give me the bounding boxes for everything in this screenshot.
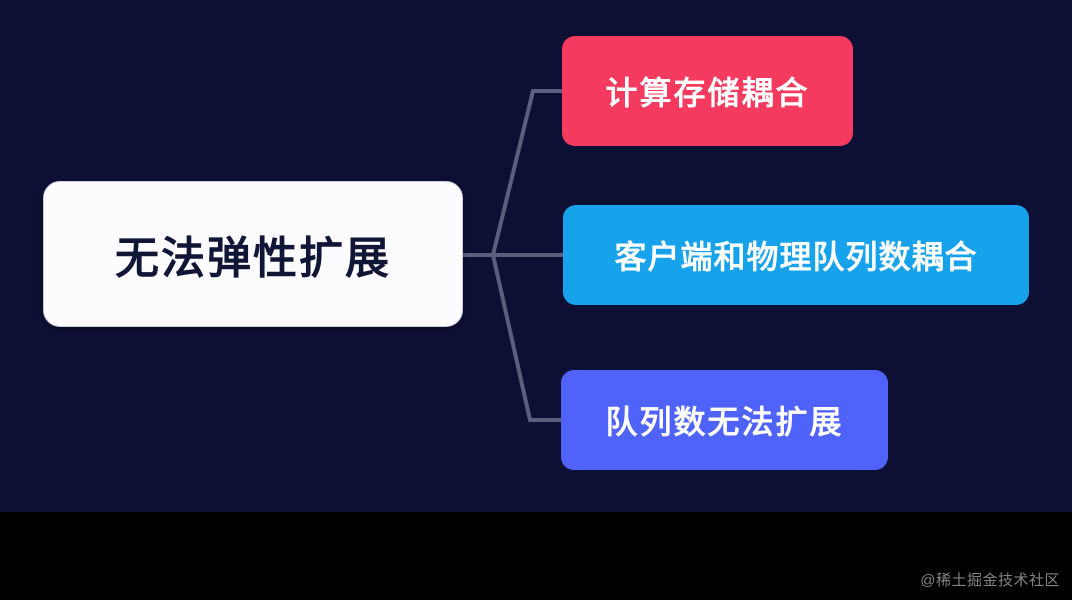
branch-node-label: 客户端和物理队列数耦合 [614,232,977,278]
watermark: @稀土掘金技术社区 [920,569,1060,590]
slide-canvas: 无法弹性扩展 计算存储耦合 客户端和物理队列数耦合 队列数无法扩展 [0,0,1072,512]
branch-node-label: 计算存储耦合 [605,68,809,114]
root-node[interactable]: 无法弹性扩展 [43,181,463,327]
branch-node-label: 队列数无法扩展 [605,397,843,443]
branch-node-queue-count-not-scalable[interactable]: 队列数无法扩展 [561,370,888,470]
branch-node-compute-storage-coupling[interactable]: 计算存储耦合 [562,36,853,146]
branch-node-client-queue-coupling[interactable]: 客户端和物理队列数耦合 [563,205,1029,305]
root-node-label: 无法弹性扩展 [115,222,391,286]
slide: 无法弹性扩展 计算存储耦合 客户端和物理队列数耦合 队列数无法扩展 @稀土掘金技… [0,0,1072,600]
